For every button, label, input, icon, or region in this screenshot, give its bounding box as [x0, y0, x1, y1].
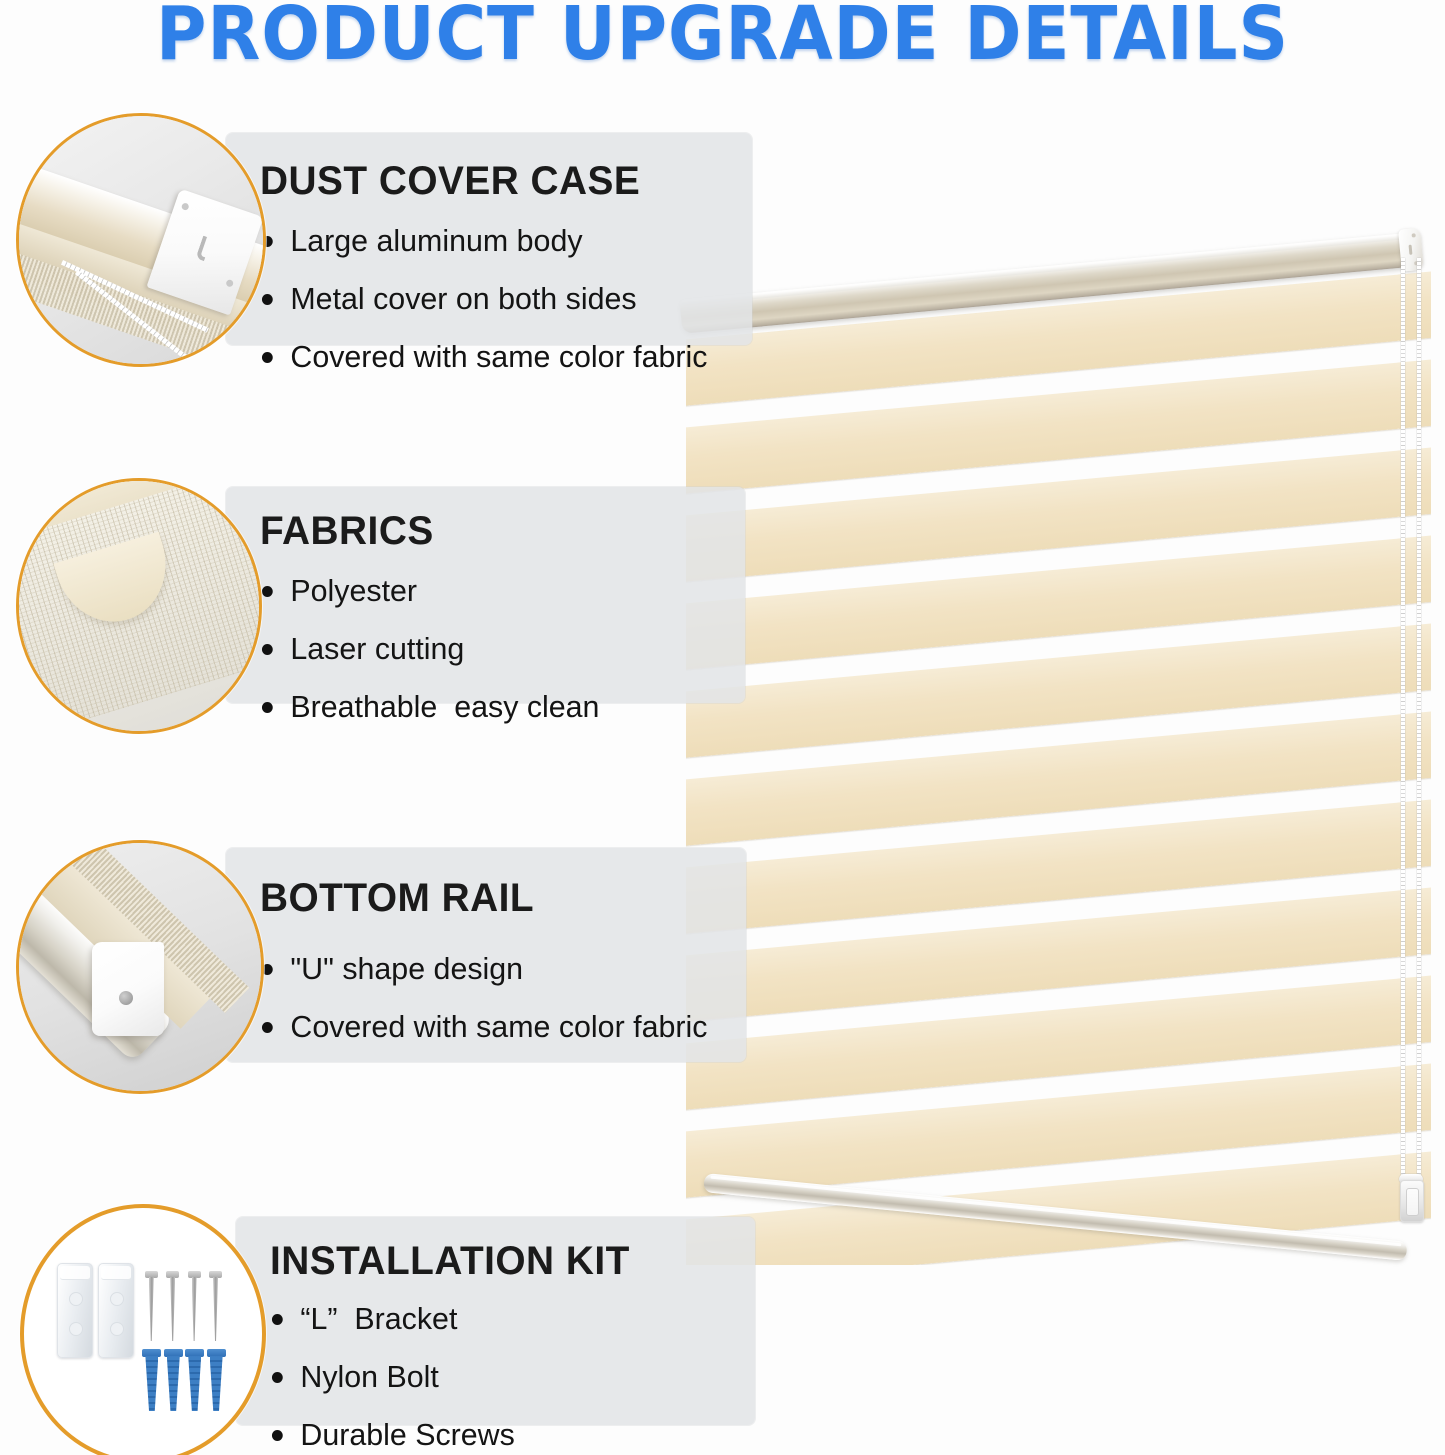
- blind-fabric: [686, 225, 1431, 1265]
- page-title: PRODUCT UPGRADE DETAILS: [51, 0, 1395, 75]
- zebra-roller-blind-image: [686, 225, 1431, 1265]
- feature-bullet: “L” Bracket: [270, 1303, 515, 1334]
- product-upgrade-infographic: PRODUCT UPGRADE DETAILS: [0, 0, 1445, 1455]
- l-bracket-icon: [57, 1263, 93, 1358]
- l-bracket-icon: [98, 1263, 134, 1358]
- feature-bullet: Covered with same color fabric: [260, 1011, 707, 1042]
- feature-panel-bottom-rail: BOTTOM RAIL "U" shape design Covered wit…: [226, 848, 746, 1062]
- feature-heading-dust-cover-case: DUST COVER CASE: [260, 159, 640, 204]
- feature-bullet: Metal cover on both sides: [260, 283, 707, 314]
- feature-heading-fabrics: FABRICS: [260, 509, 434, 554]
- feature-bullet: Laser cutting: [260, 633, 599, 664]
- feature-photo-bottom-rail: [16, 840, 264, 1094]
- feature-heading-installation-kit: INSTALLATION KIT: [270, 1239, 630, 1284]
- screw-icon: [212, 1271, 219, 1341]
- feature-photo-fabrics: [16, 478, 262, 734]
- feature-bullet: Durable Screws: [270, 1419, 515, 1450]
- wall-anchor-icon: [167, 1349, 180, 1411]
- feature-bullet: Breathable easy clean: [260, 691, 599, 722]
- feature-bullet: Nylon Bolt: [270, 1361, 515, 1392]
- screw-icon: [148, 1271, 155, 1341]
- wall-anchor-icon: [210, 1349, 223, 1411]
- wall-anchor-icon: [145, 1349, 158, 1411]
- feature-panel-fabrics: FABRICS Polyester Laser cutting Breathab…: [226, 487, 745, 703]
- feature-panel-dust-cover-case: DUST COVER CASE Large aluminum body Meta…: [226, 133, 752, 345]
- feature-photo-installation-kit: [20, 1204, 266, 1455]
- chain-safety-clip: [1400, 1180, 1424, 1222]
- wall-anchor-icon: [188, 1349, 201, 1411]
- feature-heading-bottom-rail: BOTTOM RAIL: [260, 876, 534, 921]
- bead-chain[interactable]: [1398, 258, 1434, 1248]
- feature-bullet: Covered with same color fabric: [260, 341, 707, 372]
- feature-bullet: "U" shape design: [260, 953, 707, 984]
- feature-bullet: Polyester: [260, 575, 599, 606]
- feature-photo-dust-cover-case: [16, 113, 266, 367]
- feature-bullet: Large aluminum body: [260, 225, 707, 256]
- screw-icon: [169, 1271, 176, 1341]
- feature-panel-installation-kit: INSTALLATION KIT “L” Bracket Nylon Bolt …: [236, 1217, 755, 1425]
- screw-icon: [191, 1271, 198, 1341]
